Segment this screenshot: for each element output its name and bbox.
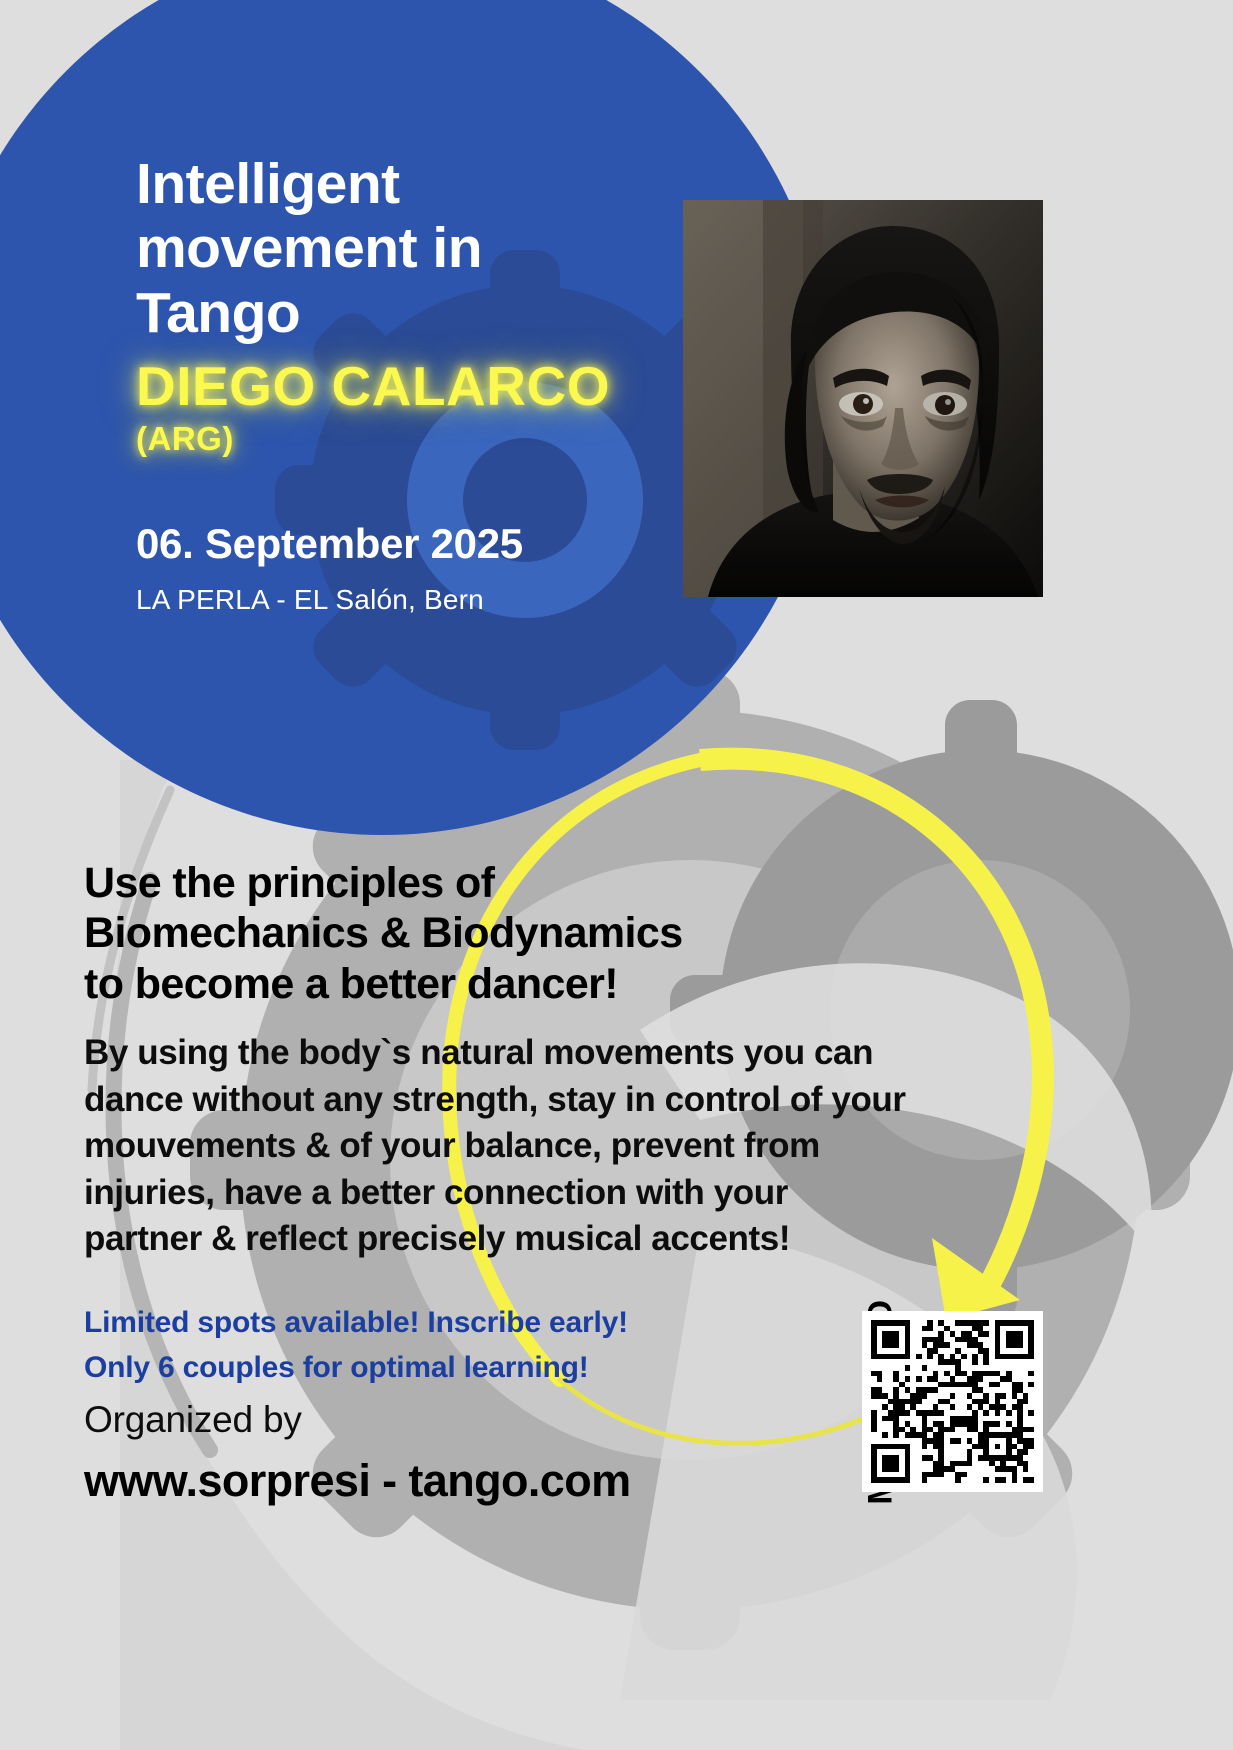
- body-line-2: dance without any strength, stay in cont…: [84, 1077, 1044, 1124]
- qr-code[interactable]: [862, 1311, 1043, 1492]
- body-line-3: mouvements & of your balance, prevent fr…: [84, 1123, 1044, 1170]
- organizer-block: Organized by www.sorpresi - tango.com: [84, 1399, 631, 1507]
- headline-line-1: Use the principles of: [84, 858, 1044, 908]
- qr-code-grid: [871, 1320, 1034, 1483]
- headline-line-3: to become a better dancer!: [84, 959, 1044, 1009]
- headline-line-2: Biomechanics & Biodynamics: [84, 908, 1044, 958]
- body-copy: By using the body`s natural movements yo…: [84, 1030, 1044, 1263]
- cta-line-2: Only 6 couples for optimal learning!: [84, 1345, 924, 1390]
- body-line-1: By using the body`s natural movements yo…: [84, 1030, 1044, 1077]
- body-line-4: injuries, have a better connection with …: [84, 1170, 1044, 1217]
- cta-line-1: Limited spots available! Inscribe early!: [84, 1300, 924, 1345]
- poster-root: Intelligent movement in Tango DIEGO CALA…: [0, 0, 1233, 1750]
- body-line-5: partner & reflect precisely musical acce…: [84, 1216, 1044, 1263]
- cta-block: Limited spots available! Inscribe early!…: [84, 1300, 924, 1390]
- website-link[interactable]: www.sorpresi - tango.com: [84, 1455, 631, 1507]
- headline: Use the principles of Biomechanics & Bio…: [84, 858, 1044, 1009]
- organized-by-label: Organized by: [84, 1399, 631, 1441]
